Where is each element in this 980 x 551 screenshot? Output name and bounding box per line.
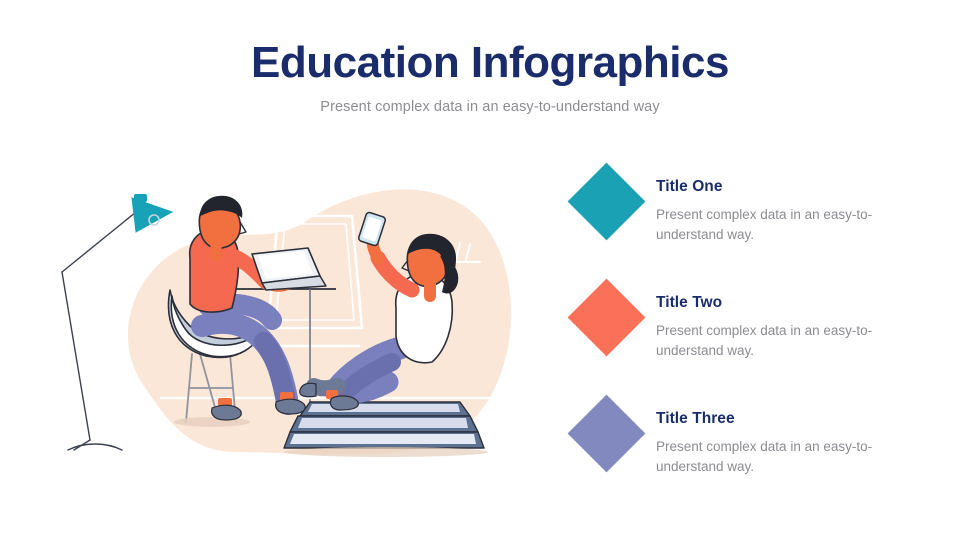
slide-header: Education Infographics Present complex d… [0,38,980,115]
floor-lamp-icon [62,212,136,450]
diamond-icon-three [567,395,645,473]
item-text-two: Title Two Present complex data in an eas… [656,284,936,360]
book-stack [284,402,488,457]
item-description-two: Present complex data in an easy-to-under… [656,321,896,360]
education-illustration [40,150,530,490]
diamond-wrap-two [556,284,656,345]
infographic-item-two[interactable]: Title Two Present complex data in an eas… [556,284,936,364]
infographic-item-three[interactable]: Title Three Present complex data in an e… [556,400,936,480]
item-title-one: Title One [656,178,936,196]
lamp-shade-teal [132,194,172,232]
item-text-three: Title Three Present complex data in an e… [656,400,936,476]
infographic-item-one[interactable]: Title One Present complex data in an eas… [556,168,936,248]
item-description-three: Present complex data in an easy-to-under… [656,437,896,476]
item-title-three: Title Three [656,410,936,428]
page-subtitle: Present complex data in an easy-to-under… [0,99,980,115]
diamond-wrap-three [556,400,656,461]
infographic-items-list: Title One Present complex data in an eas… [556,168,936,480]
diamond-wrap-one [556,168,656,229]
page-title: Education Infographics [0,38,980,87]
diamond-icon-two [567,279,645,357]
diamond-icon-one [567,163,645,241]
item-title-two: Title Two [656,294,936,312]
item-text-one: Title One Present complex data in an eas… [656,168,936,244]
slide-canvas: Education Infographics Present complex d… [0,0,980,551]
item-description-one: Present complex data in an easy-to-under… [656,205,896,244]
